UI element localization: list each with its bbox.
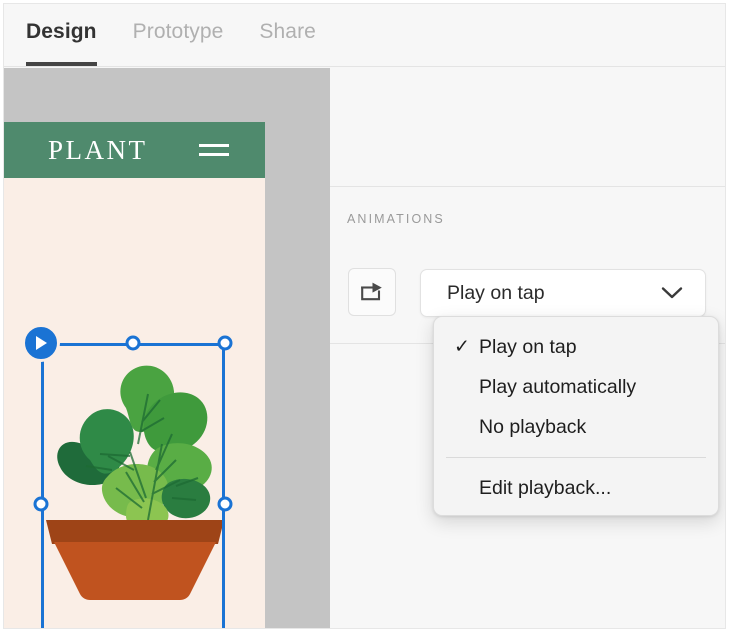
- artboard-header: PLANT: [4, 122, 265, 178]
- animation-type-menu[interactable]: ✓ Play on tap Play automatically No play…: [433, 316, 719, 516]
- tab-share[interactable]: Share: [241, 4, 334, 66]
- tab-active-underline: [26, 62, 97, 66]
- tab-share-label: Share: [241, 20, 334, 44]
- top-tab-bar: Design Prototype Share: [4, 4, 725, 67]
- transition-button[interactable]: [348, 268, 396, 316]
- selection-handle-mid-right[interactable]: [218, 497, 233, 512]
- potted-plant-illustration[interactable]: [30, 352, 240, 602]
- check-icon: ✓: [454, 338, 470, 357]
- selection-handle-top-right[interactable]: [218, 336, 233, 351]
- chevron-down-icon: [661, 287, 683, 300]
- menu-item-play-on-tap[interactable]: ✓ Play on tap: [434, 327, 718, 367]
- animations-section-label: ANIMATIONS: [347, 212, 445, 226]
- tab-prototype-label: Prototype: [115, 20, 242, 44]
- selection-handle-mid-left[interactable]: [34, 497, 49, 512]
- tab-prototype[interactable]: Prototype: [115, 4, 242, 66]
- menu-item-play-on-tap-label: Play on tap: [479, 336, 577, 359]
- play-icon: [34, 335, 49, 351]
- menu-item-no-playback[interactable]: No playback: [434, 407, 718, 447]
- animation-type-value: Play on tap: [447, 282, 545, 305]
- app-window: Design Prototype Share PLANT: [0, 0, 729, 632]
- menu-item-no-playback-label: No playback: [479, 416, 586, 439]
- tab-design-label: Design: [8, 20, 115, 44]
- selection-handle-top-mid[interactable]: [126, 336, 141, 351]
- hamburger-icon[interactable]: [199, 143, 229, 157]
- tab-design[interactable]: Design: [8, 4, 115, 66]
- menu-separator: [446, 457, 706, 458]
- menu-item-play-automatically-label: Play automatically: [479, 376, 636, 399]
- menu-item-play-automatically[interactable]: Play automatically: [434, 367, 718, 407]
- artboard-frame[interactable]: PLANT: [4, 122, 265, 628]
- panel-divider-top: [330, 186, 725, 187]
- artboard-brand-label: PLANT: [48, 135, 148, 166]
- animations-row: [348, 268, 396, 316]
- design-canvas[interactable]: PLANT: [4, 68, 330, 628]
- menu-item-edit-playback-label: Edit playback...: [479, 477, 611, 500]
- transition-arrow-icon: [359, 281, 385, 303]
- animation-type-select[interactable]: Play on tap: [420, 269, 706, 317]
- prototype-play-badge[interactable]: [22, 324, 60, 362]
- menu-item-edit-playback[interactable]: Edit playback...: [434, 468, 718, 508]
